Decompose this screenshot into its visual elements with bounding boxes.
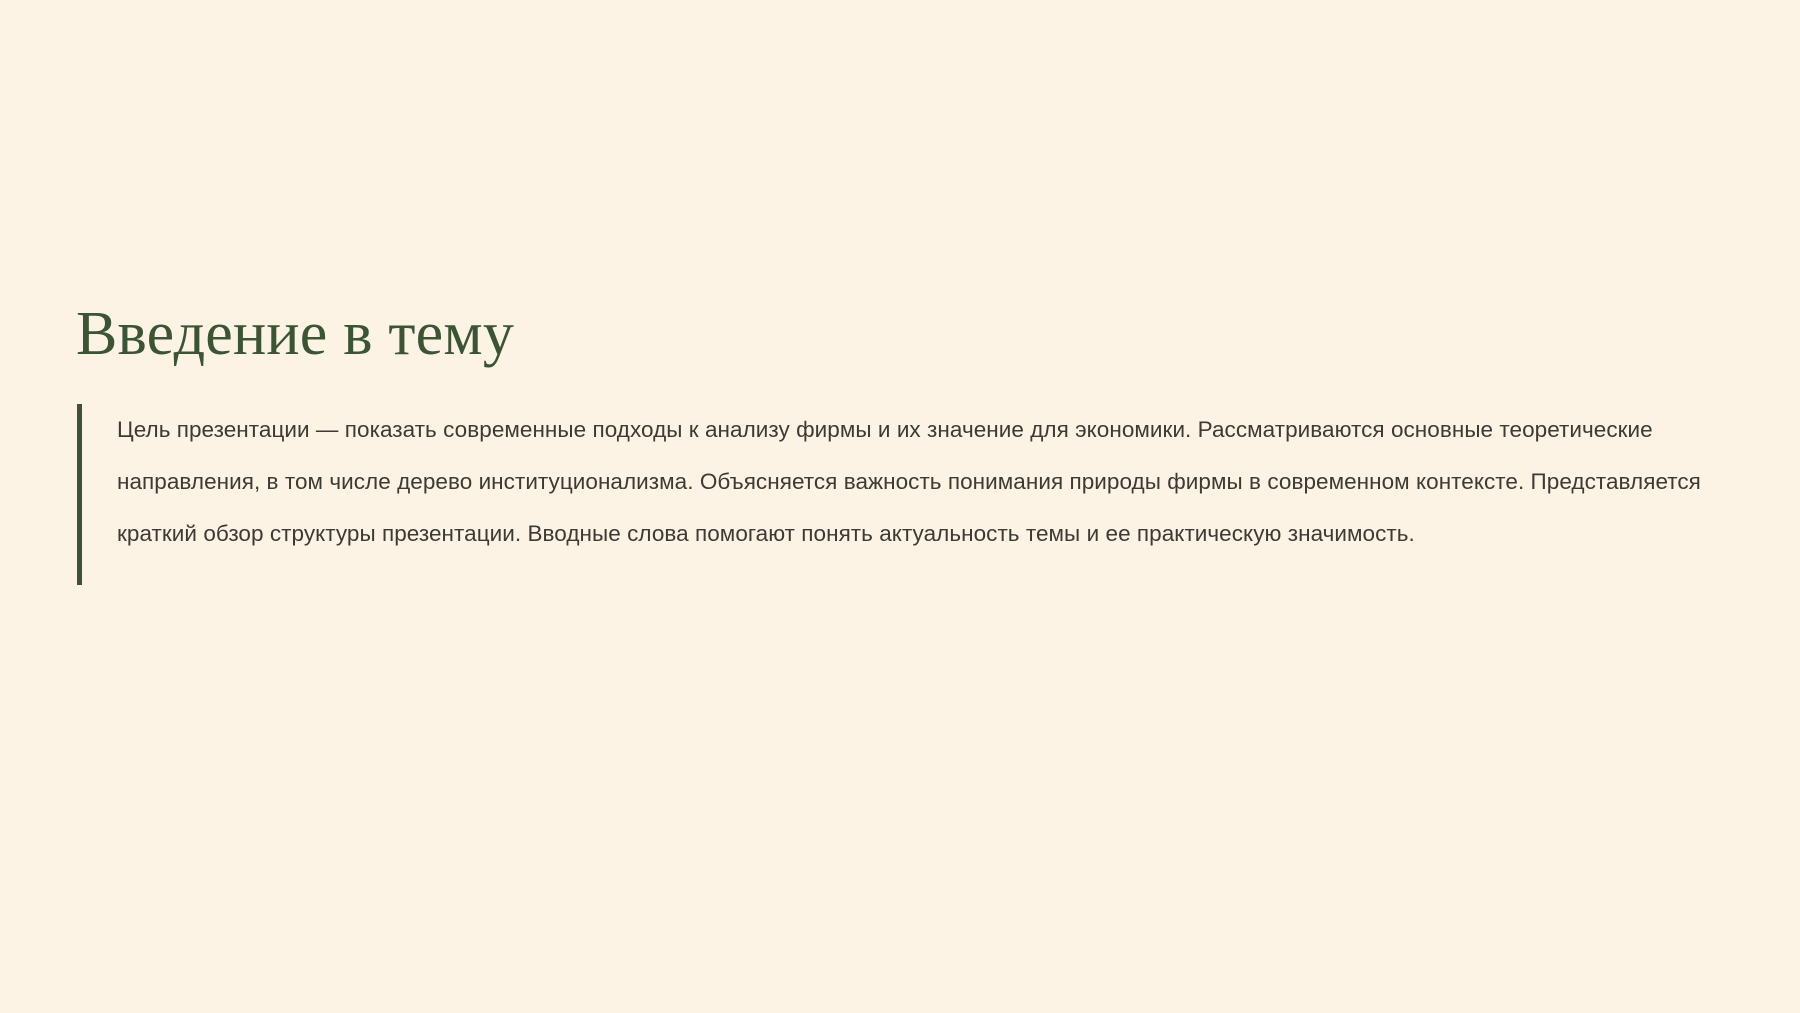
presentation-slide: Введение в тему Цель презентации — показ… xyxy=(0,0,1800,1013)
slide-body-block: Цель презентации — показать современные … xyxy=(77,404,1737,585)
slide-title: Введение в тему xyxy=(76,300,514,368)
slide-body-text: Цель презентации — показать современные … xyxy=(82,404,1737,585)
